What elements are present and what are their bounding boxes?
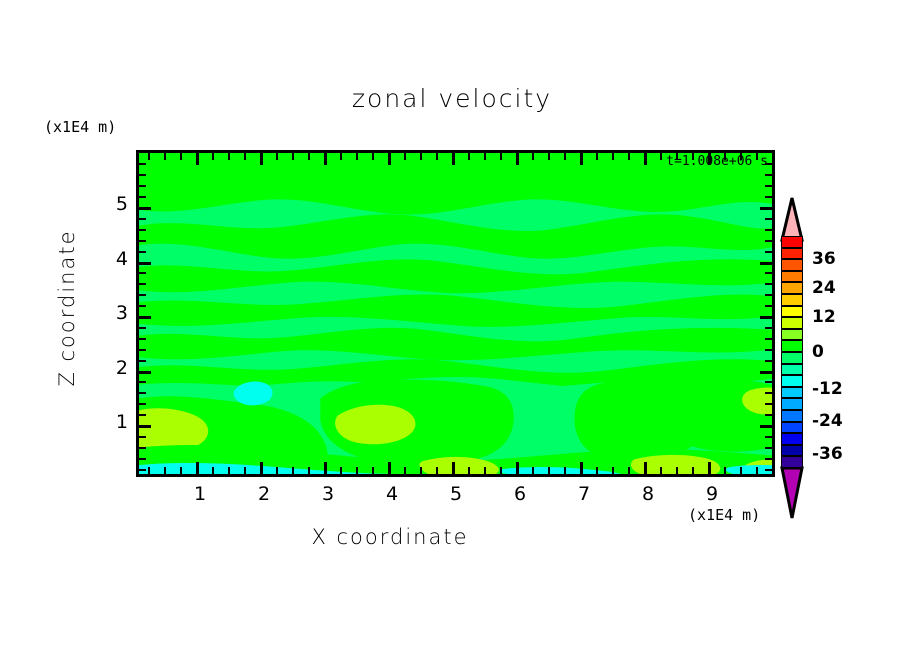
x-tick-label: 2 (258, 483, 270, 505)
y-minor-tick-right (765, 196, 772, 198)
x-minor-tick-top (148, 153, 150, 160)
y-minor-tick-right (765, 174, 772, 176)
y-major-tick (139, 425, 151, 428)
colorbar-band (781, 248, 803, 260)
y-minor-tick (139, 218, 146, 220)
y-tick-label: 4 (106, 248, 128, 270)
y-minor-tick (139, 251, 146, 253)
x-minor-tick (596, 467, 598, 474)
y-minor-tick (139, 403, 146, 405)
x-minor-tick-top (564, 153, 566, 160)
x-minor-tick-top (660, 153, 662, 160)
x-minor-tick (436, 467, 438, 474)
x-minor-tick (244, 467, 246, 474)
colorbar-tick-label: -24 (812, 411, 843, 431)
x-major-tick (452, 462, 455, 474)
x-major-tick (324, 462, 327, 474)
y-minor-tick-right (765, 469, 772, 471)
x-axis-unit-label: (x1E4 m) (688, 506, 760, 524)
y-minor-tick (139, 458, 146, 460)
x-minor-tick (692, 467, 694, 474)
contour-field (139, 153, 772, 474)
y-minor-tick-right (765, 229, 772, 231)
y-minor-tick (139, 392, 146, 394)
colorbar-band (781, 410, 803, 422)
contour-plot-area: t=1.008e+06 s (136, 150, 775, 477)
y-tick-label: 3 (106, 302, 128, 324)
y-minor-tick-right (765, 338, 772, 340)
x-minor-tick-top (164, 153, 166, 160)
colorbar-band (781, 375, 803, 387)
y-minor-tick (139, 272, 146, 274)
x-minor-tick-top (468, 153, 470, 160)
colorbar-band (781, 317, 803, 329)
x-minor-tick-top (340, 153, 342, 160)
x-minor-tick-top (772, 153, 774, 160)
x-major-tick (708, 462, 711, 474)
x-minor-tick (356, 467, 358, 474)
y-tick-label: 5 (106, 193, 128, 215)
y-major-tick-right (760, 371, 772, 374)
colorbar-tick-label: -36 (812, 444, 843, 464)
x-minor-tick-top (308, 153, 310, 160)
y-minor-tick-right (765, 349, 772, 351)
colorbar-band (781, 433, 803, 445)
y-minor-tick (139, 338, 146, 340)
x-major-tick-top (388, 153, 391, 165)
y-minor-tick-right (765, 305, 772, 307)
y-tick-label: 1 (106, 411, 128, 433)
page-title: zonal velocity (0, 84, 904, 113)
x-minor-tick (292, 467, 294, 474)
y-minor-tick-right (765, 272, 772, 274)
x-minor-tick (420, 467, 422, 474)
x-tick-label: 6 (514, 483, 526, 505)
y-major-tick (139, 371, 151, 374)
y-minor-tick-right (765, 218, 772, 220)
x-minor-tick (276, 467, 278, 474)
x-minor-tick (724, 467, 726, 474)
y-minor-tick (139, 360, 146, 362)
y-minor-tick (139, 414, 146, 416)
y-minor-tick (139, 447, 146, 449)
y-minor-tick (139, 229, 146, 231)
x-minor-tick (740, 467, 742, 474)
y-minor-tick-right (765, 240, 772, 242)
x-minor-tick-top (484, 153, 486, 160)
x-minor-tick (308, 467, 310, 474)
x-minor-tick (148, 467, 150, 474)
x-minor-tick-top (372, 153, 374, 160)
x-minor-tick (756, 467, 758, 474)
y-minor-tick-right (765, 185, 772, 187)
x-major-tick-top (196, 153, 199, 165)
x-minor-tick (548, 467, 550, 474)
x-minor-tick-top (436, 153, 438, 160)
x-minor-tick (676, 467, 678, 474)
colorbar-tick-label: 24 (812, 278, 836, 298)
colorbar-band (781, 364, 803, 376)
x-minor-tick (532, 467, 534, 474)
x-major-tick-top (644, 153, 647, 165)
time-annotation: t=1.008e+06 s (666, 154, 768, 169)
x-major-tick-top (260, 153, 263, 165)
colorbar-band (781, 282, 803, 294)
x-minor-tick-top (548, 153, 550, 160)
colorbar-tick-label: -12 (812, 379, 843, 399)
colorbar-band (781, 294, 803, 306)
y-minor-tick-right (765, 381, 772, 383)
x-minor-tick-top (596, 153, 598, 160)
x-tick-label: 4 (386, 483, 398, 505)
y-tick-label: 2 (106, 357, 128, 379)
y-minor-tick (139, 327, 146, 329)
colorbar-band (781, 387, 803, 399)
y-minor-tick (139, 163, 146, 165)
y-major-tick-right (760, 425, 772, 428)
y-minor-tick-right (765, 392, 772, 394)
colorbar-band (781, 259, 803, 271)
y-minor-tick (139, 305, 146, 307)
colorbar-band (781, 236, 803, 248)
x-minor-tick (180, 467, 182, 474)
x-major-tick (260, 462, 263, 474)
x-minor-tick (612, 467, 614, 474)
x-minor-tick-top (628, 153, 630, 160)
x-minor-tick (484, 467, 486, 474)
figure-canvas: zonal velocity (x1E4 m) (x1E4 m) X coord… (0, 0, 904, 654)
y-axis-title: Z coordinate (55, 218, 79, 398)
colorbar-band (781, 398, 803, 410)
x-tick-label: 8 (642, 483, 654, 505)
y-minor-tick-right (765, 447, 772, 449)
y-major-tick-right (760, 262, 772, 265)
x-minor-tick-top (500, 153, 502, 160)
y-axis-unit-label: (x1E4 m) (44, 118, 116, 136)
y-minor-tick-right (765, 403, 772, 405)
y-minor-tick-right (765, 360, 772, 362)
y-major-tick (139, 262, 151, 265)
x-tick-label: 5 (450, 483, 462, 505)
colorbar-band (781, 340, 803, 352)
x-minor-tick (212, 467, 214, 474)
x-minor-tick (372, 467, 374, 474)
x-minor-tick-top (404, 153, 406, 160)
y-minor-tick (139, 349, 146, 351)
x-minor-tick (500, 467, 502, 474)
x-major-tick (644, 462, 647, 474)
y-minor-tick-right (765, 327, 772, 329)
x-major-tick-top (580, 153, 583, 165)
x-minor-tick (468, 467, 470, 474)
x-minor-tick-top (420, 153, 422, 160)
y-minor-tick (139, 174, 146, 176)
colorbar-tick-label: 36 (812, 249, 836, 269)
x-axis-title: X coordinate (0, 525, 780, 549)
x-minor-tick-top (292, 153, 294, 160)
y-minor-tick (139, 294, 146, 296)
x-minor-tick (164, 467, 166, 474)
y-minor-tick-right (765, 251, 772, 253)
x-minor-tick (628, 467, 630, 474)
colorbar-band (781, 456, 803, 468)
y-minor-tick (139, 381, 146, 383)
x-minor-tick-top (228, 153, 230, 160)
colorbar-band (781, 306, 803, 318)
colorbar[interactable] (781, 236, 803, 468)
x-tick-label: 9 (706, 483, 718, 505)
colorbar-band (781, 352, 803, 364)
colorbar-band (781, 422, 803, 434)
x-minor-tick (404, 467, 406, 474)
x-major-tick (580, 462, 583, 474)
x-major-tick-top (516, 153, 519, 165)
y-major-tick (139, 207, 151, 210)
x-major-tick (388, 462, 391, 474)
y-minor-tick-right (765, 414, 772, 416)
y-major-tick (139, 316, 151, 319)
x-major-tick (196, 462, 199, 474)
x-minor-tick-top (244, 153, 246, 160)
x-minor-tick-top (356, 153, 358, 160)
x-minor-tick-top (532, 153, 534, 160)
x-major-tick-top (324, 153, 327, 165)
y-minor-tick (139, 196, 146, 198)
x-minor-tick (660, 467, 662, 474)
x-minor-tick (340, 467, 342, 474)
colorbar-band (781, 271, 803, 283)
x-tick-label: 7 (578, 483, 590, 505)
x-minor-tick (772, 467, 774, 474)
x-minor-tick-top (212, 153, 214, 160)
x-tick-label: 3 (322, 483, 334, 505)
y-minor-tick-right (765, 283, 772, 285)
x-minor-tick (564, 467, 566, 474)
x-major-tick-top (452, 153, 455, 165)
colorbar-band (781, 445, 803, 457)
x-minor-tick (228, 467, 230, 474)
y-minor-tick (139, 283, 146, 285)
y-minor-tick (139, 185, 146, 187)
y-minor-tick (139, 436, 146, 438)
colorbar-tick-label: 12 (812, 307, 836, 327)
y-minor-tick (139, 240, 146, 242)
colorbar-band (781, 329, 803, 341)
y-minor-tick-right (765, 436, 772, 438)
colorbar-tick-label: 0 (812, 342, 824, 362)
y-major-tick-right (760, 316, 772, 319)
x-tick-label: 1 (194, 483, 206, 505)
x-major-tick (516, 462, 519, 474)
x-minor-tick-top (276, 153, 278, 160)
y-minor-tick-right (765, 294, 772, 296)
x-minor-tick-top (612, 153, 614, 160)
y-minor-tick (139, 469, 146, 471)
y-minor-tick-right (765, 458, 772, 460)
x-minor-tick-top (180, 153, 182, 160)
y-major-tick-right (760, 207, 772, 210)
